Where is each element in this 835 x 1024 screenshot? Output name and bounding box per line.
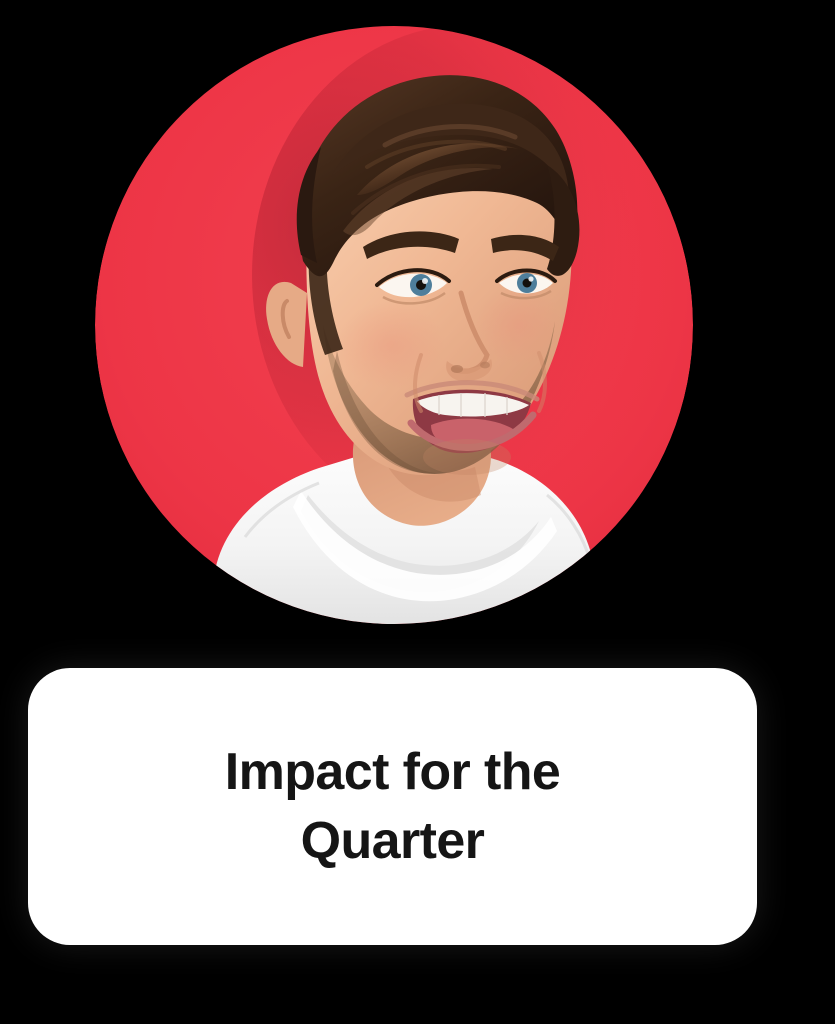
avatar-portrait-illustration bbox=[95, 25, 693, 625]
caption-title: Impact for the Quarter bbox=[225, 738, 560, 875]
caption-card[interactable]: Impact for the Quarter bbox=[28, 668, 757, 945]
avatar bbox=[95, 25, 693, 625]
slide-canvas: Impact for the Quarter bbox=[0, 0, 835, 1024]
